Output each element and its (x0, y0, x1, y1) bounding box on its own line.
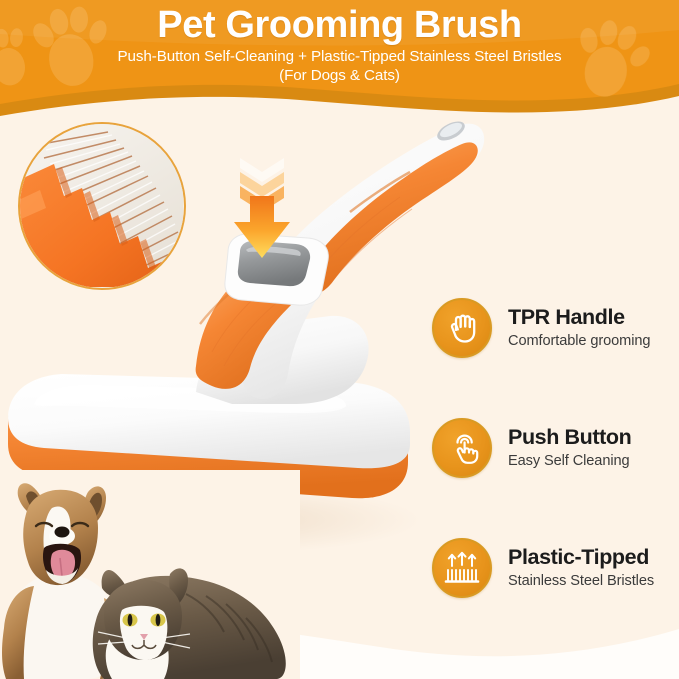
pets-photo (0, 470, 300, 679)
feature-list: TPR Handle Comfortable grooming (432, 292, 679, 652)
feature-subtitle: Easy Self Cleaning (508, 451, 631, 471)
feature-item-push-button: Push Button Easy Self Cleaning (432, 412, 679, 484)
product-infographic: TPR Handle Comfortable grooming (0, 0, 679, 679)
feature-title: Push Button (508, 425, 631, 450)
bristle-closeup-inset (18, 122, 186, 290)
header-banner: Pet Grooming Brush Push-Button Self-Clea… (0, 0, 679, 118)
feature-item-tpr-handle: TPR Handle Comfortable grooming (432, 292, 679, 364)
feature-item-plastic-tipped: Plastic-Tipped Stainless Steel Bristles (432, 532, 679, 604)
banner-shape (0, 0, 679, 118)
feature-title: TPR Handle (508, 305, 650, 330)
feature-subtitle: Comfortable grooming (508, 331, 650, 351)
feature-title: Plastic-Tipped (508, 545, 654, 570)
tap-finger-icon (432, 418, 492, 478)
bristles-arrows-icon (432, 538, 492, 598)
feature-subtitle: Stainless Steel Bristles (508, 571, 654, 591)
open-hand-icon (432, 298, 492, 358)
